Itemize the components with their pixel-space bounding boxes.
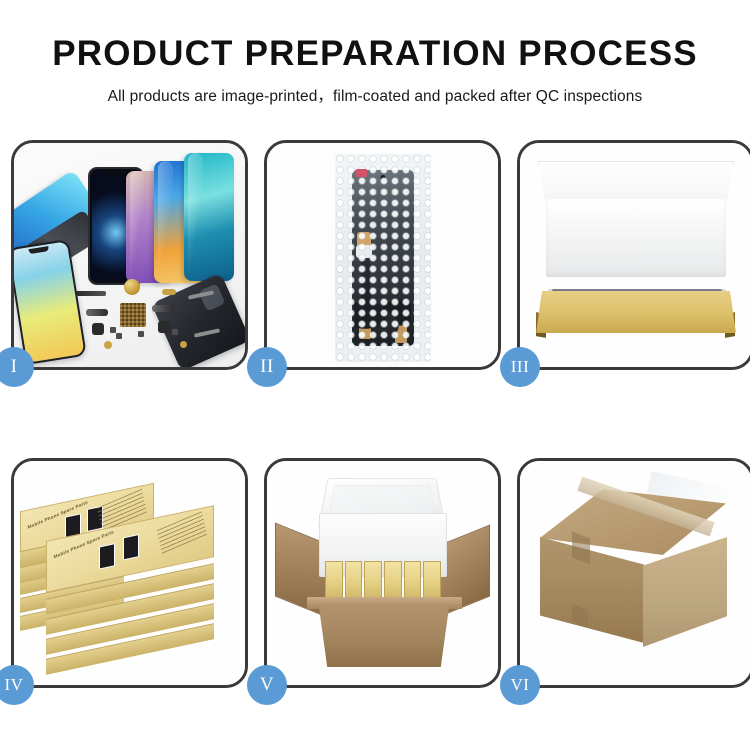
- retail-box-item: [345, 561, 363, 601]
- page-title: PRODUCT PREPARATION PROCESS: [0, 0, 750, 71]
- step-badge-2: II: [247, 347, 287, 387]
- product-preparation-infographic: PRODUCT PREPARATION PROCESS All products…: [0, 0, 750, 750]
- step-image-3: [520, 143, 750, 367]
- box-spec-lines-2: [157, 511, 207, 554]
- retail-box-item: [404, 561, 422, 601]
- packed-retail-boxes: [325, 561, 441, 601]
- step-panel-2: II: [264, 140, 501, 370]
- carton-left-face: [540, 537, 644, 643]
- bubble-wrap-bag: [335, 154, 431, 362]
- box-screen-image-c: [99, 543, 115, 569]
- step-panel-5: V: [264, 458, 501, 688]
- step-badge-5: V: [247, 665, 287, 705]
- phone-display-teal-icon: [184, 153, 234, 281]
- step-panel-3: III: [517, 140, 750, 370]
- retail-box-item: [364, 561, 382, 601]
- spare-parts-cluster: [76, 271, 226, 357]
- step-image-6: [520, 461, 750, 685]
- carton-front-wall: [313, 605, 455, 667]
- retail-box-stack: Mobile Phone Spare Parts Mobile Phone Sp…: [14, 461, 245, 685]
- step-badge-1: I: [0, 347, 34, 387]
- step-badge-6: VI: [500, 665, 540, 705]
- bubble-texture: [335, 154, 431, 362]
- step-badge-4: IV: [0, 665, 34, 705]
- screen-notch: [105, 171, 127, 176]
- process-step-grid: I II: [11, 140, 739, 688]
- red-qc-label: [356, 169, 367, 177]
- box-screen-image-d: [123, 534, 139, 560]
- step-image-1: [14, 143, 245, 367]
- kraft-tray-body: [536, 291, 736, 333]
- retail-box-item: [423, 561, 441, 601]
- header: PRODUCT PREPARATION PROCESS All products…: [0, 0, 750, 106]
- step-panel-1: I: [11, 140, 248, 370]
- white-foam-sheet: [546, 199, 726, 277]
- step-panel-4: Mobile Phone Spare Parts Mobile Phone Sp…: [11, 458, 248, 688]
- step-badge-3: III: [500, 347, 540, 387]
- step-image-5: [267, 461, 498, 685]
- page-subtitle: All products are image-printed，film-coat…: [0, 71, 750, 106]
- step-panel-6: VI: [517, 458, 750, 688]
- retail-box-item: [325, 561, 343, 601]
- retail-box-item: [384, 561, 402, 601]
- step-image-4: Mobile Phone Spare Parts Mobile Phone Sp…: [14, 461, 245, 685]
- step-image-2: [267, 143, 498, 367]
